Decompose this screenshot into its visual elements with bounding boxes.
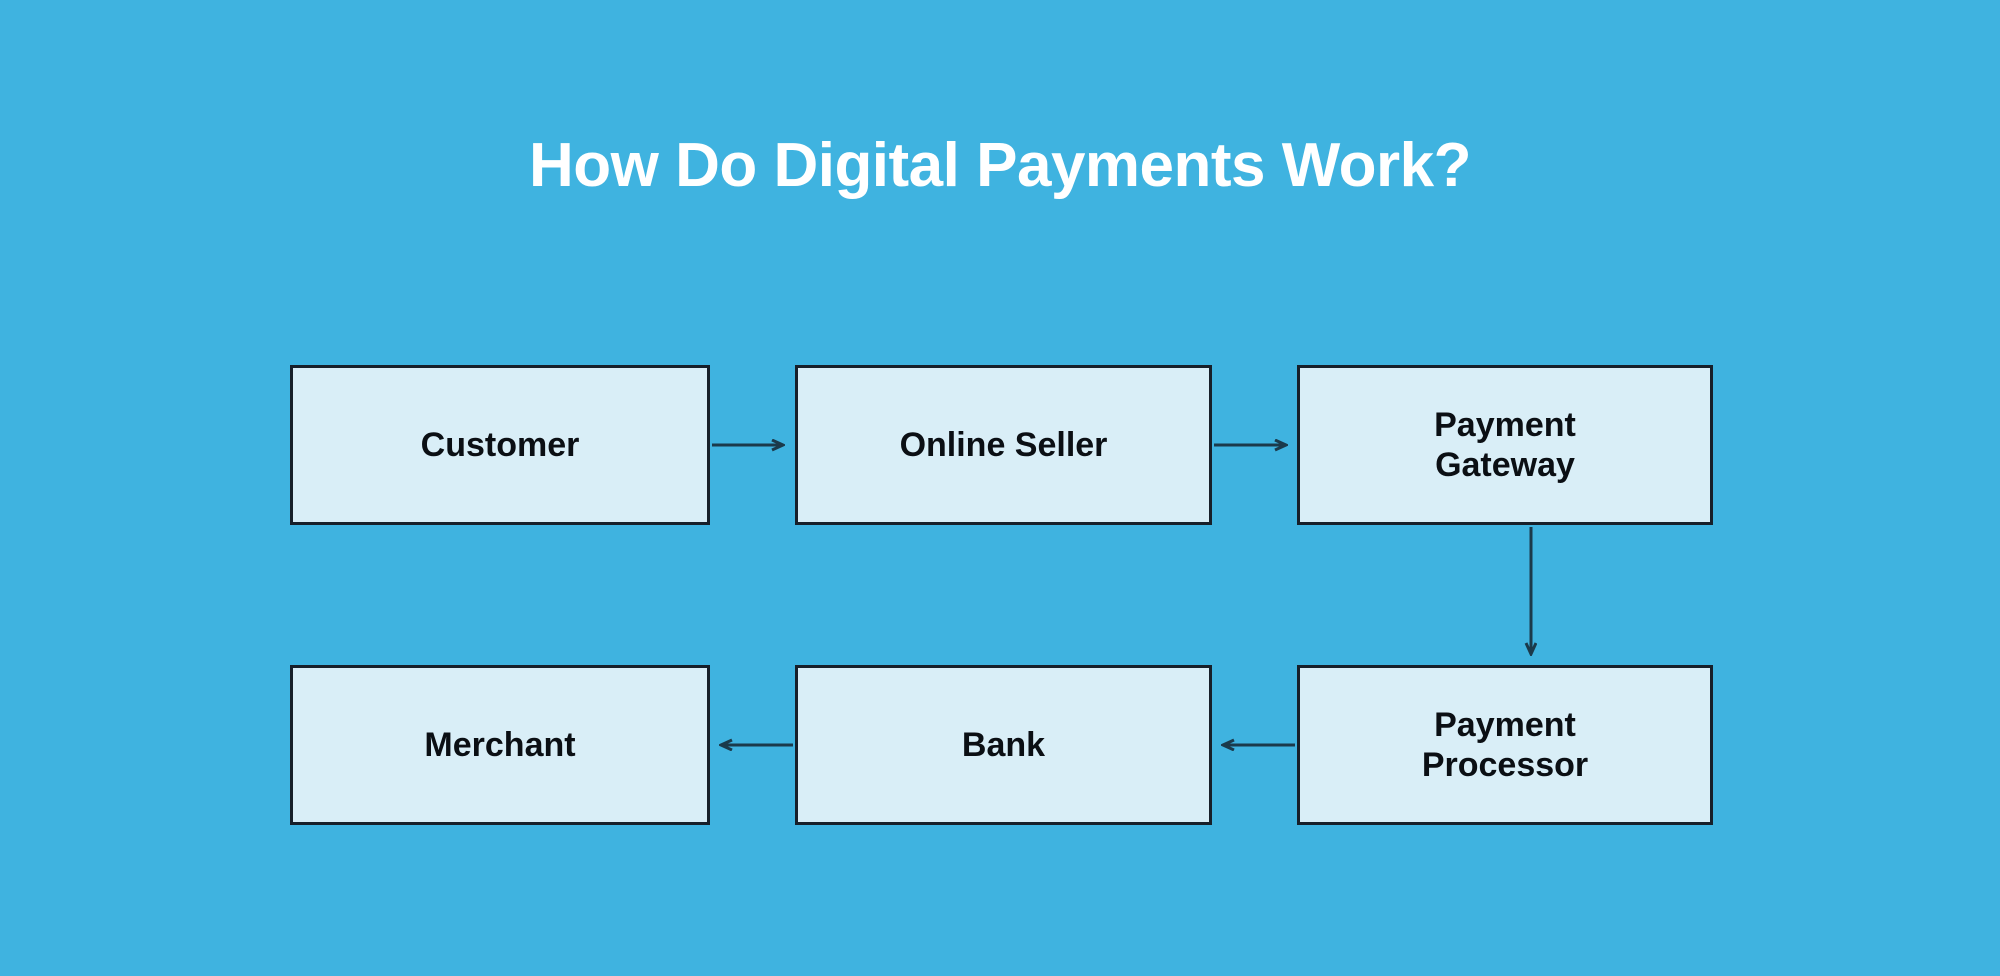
node-customer[interactable]: Customer	[290, 365, 710, 525]
node-payment-processor-label-line1: Payment	[1422, 705, 1588, 745]
node-bank[interactable]: Bank	[795, 665, 1212, 825]
node-payment-gateway-label-line2: Gateway	[1434, 445, 1576, 485]
node-payment-processor[interactable]: Payment Processor	[1297, 665, 1713, 825]
node-bank-label: Bank	[962, 725, 1045, 765]
page-title: How Do Digital Payments Work?	[0, 132, 2000, 200]
node-payment-gateway-label-line1: Payment	[1434, 405, 1576, 445]
node-payment-gateway[interactable]: Payment Gateway	[1297, 365, 1713, 525]
node-online-seller-label: Online Seller	[900, 425, 1108, 465]
node-online-seller[interactable]: Online Seller	[795, 365, 1212, 525]
node-customer-label: Customer	[421, 425, 580, 465]
node-payment-processor-label-line2: Processor	[1422, 745, 1588, 785]
diagram-canvas: How Do Digital Payments Work? Customer O…	[0, 0, 2000, 976]
node-merchant-label: Merchant	[424, 725, 575, 765]
node-merchant[interactable]: Merchant	[290, 665, 710, 825]
